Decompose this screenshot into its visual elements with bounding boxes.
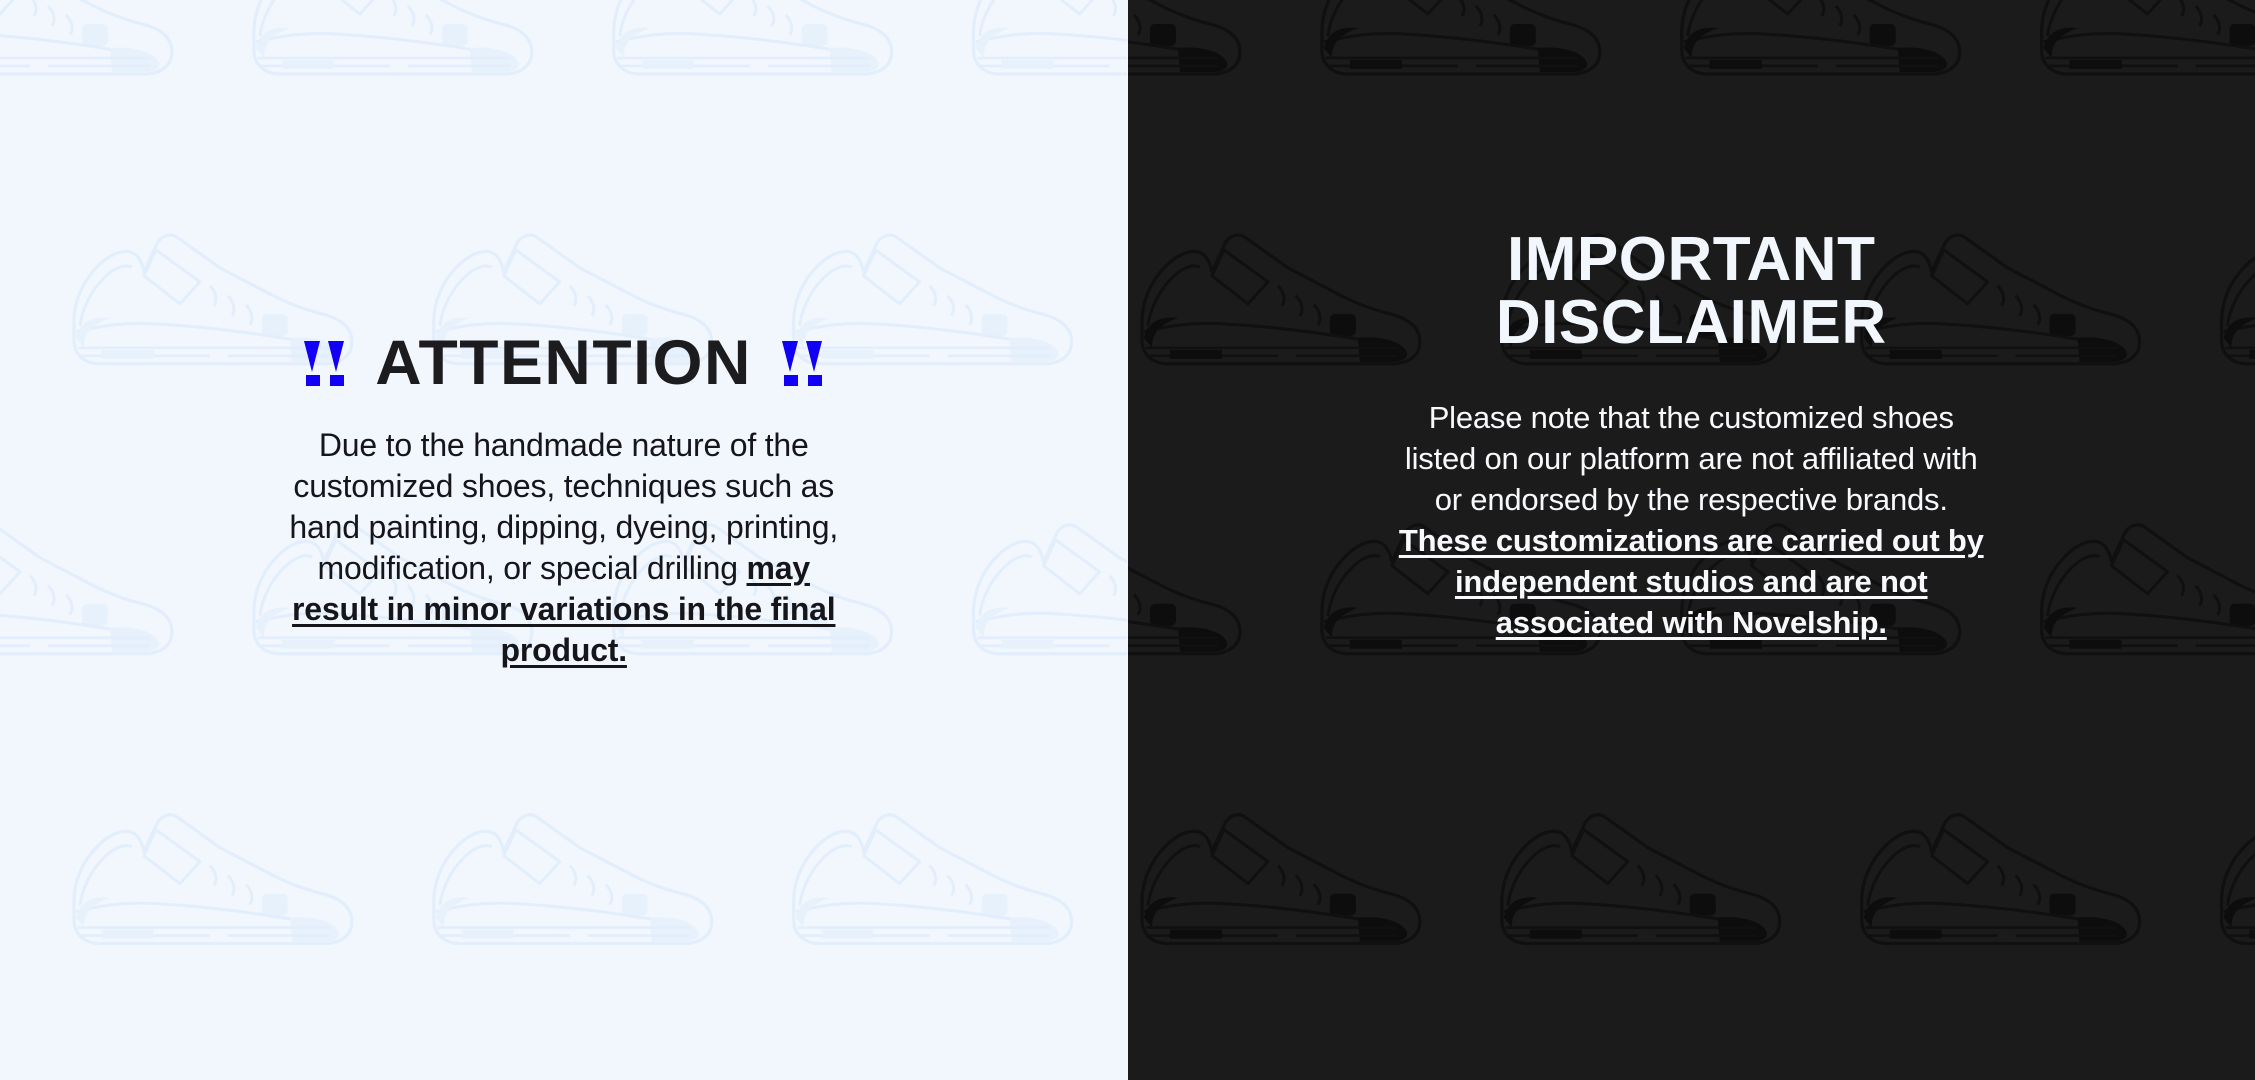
- attention-heading-text: ATTENTION: [375, 332, 752, 395]
- disclaimer-heading: IMPORTANT DISCLAIMER: [1371, 228, 2011, 354]
- disclaimer-heading-line1: IMPORTANT: [1371, 228, 2011, 291]
- disclaimer-body-plain: Please note that the customized shoes li…: [1405, 400, 1978, 517]
- double-exclamation-icon-right: [782, 341, 823, 386]
- disclaimer-body-emphasis: These customizations are carried out by …: [1399, 523, 1984, 640]
- disclaimer-banner: ATTENTION Due to the handmade nature of …: [0, 0, 2255, 1080]
- disclaimer-heading-line2: DISCLAIMER: [1371, 291, 2011, 354]
- attention-heading: ATTENTION: [304, 332, 823, 395]
- double-exclamation-icon-left: [304, 341, 345, 386]
- disclaimer-body: Please note that the customized shoes li…: [1399, 398, 1984, 643]
- attention-body: Due to the handmade nature of the custom…: [284, 425, 844, 671]
- attention-panel: ATTENTION Due to the handmade nature of …: [0, 0, 1128, 1080]
- disclaimer-panel: IMPORTANT DISCLAIMER Please note that th…: [1128, 0, 2255, 1080]
